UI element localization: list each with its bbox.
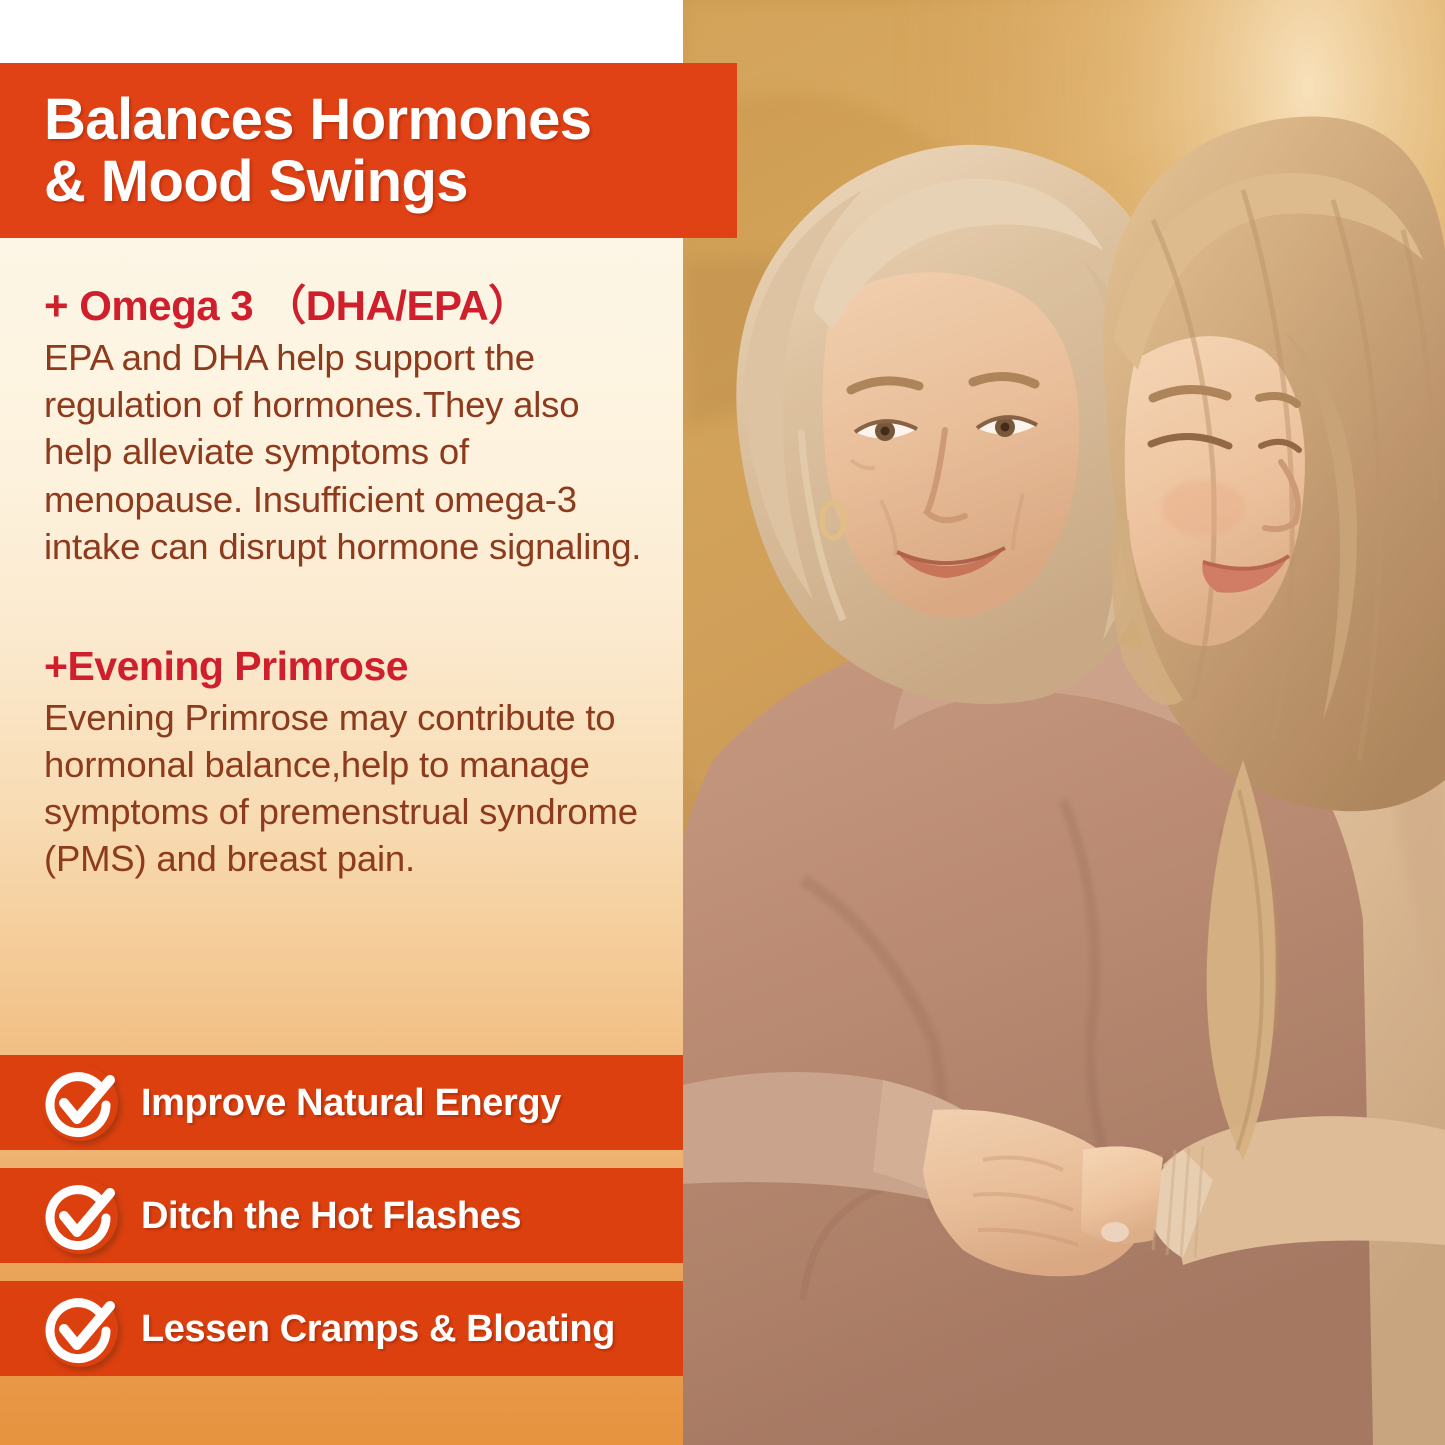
- benefit-label: Ditch the Hot Flashes: [141, 1197, 521, 1235]
- benefit-item-lessen-cramps-and-bloating: Lessen Cramps & Bloating: [0, 1281, 683, 1376]
- benefit-item-improve-natural-energy: Improve Natural Energy: [0, 1055, 683, 1150]
- section-omega-3-heading: + Omega 3 （DHA/EPA）: [44, 282, 655, 330]
- benefit-label: Lessen Cramps & Bloating: [141, 1310, 615, 1348]
- photo-illustration: [683, 0, 1445, 1445]
- lifestyle-photo: [683, 0, 1445, 1445]
- product-infographic-page: Balances Hormones & Mood Swings + Omega …: [0, 0, 1445, 1445]
- benefit-label: Improve Natural Energy: [141, 1084, 561, 1122]
- sections-container: + Omega 3 （DHA/EPA） EPA and DHA help sup…: [0, 238, 683, 882]
- section-evening-primrose-body: Evening Primrose may contribute to hormo…: [44, 694, 655, 882]
- section-omega-3: + Omega 3 （DHA/EPA） EPA and DHA help sup…: [0, 282, 683, 570]
- section-evening-primrose-heading: +Evening Primrose: [44, 643, 655, 690]
- section-evening-primrose: +Evening Primrose Evening Primrose may c…: [0, 643, 683, 882]
- benefits-list: Improve Natural Energy Ditch the Hot Fla…: [0, 1055, 683, 1376]
- check-circle-icon: [40, 1063, 120, 1143]
- check-circle-icon: [40, 1289, 120, 1369]
- check-circle-icon: [40, 1176, 120, 1256]
- section-omega-3-body: EPA and DHA help support the regulation …: [44, 334, 655, 569]
- benefit-item-ditch-the-hot-flashes: Ditch the Hot Flashes: [0, 1168, 683, 1263]
- page-title: Balances Hormones & Mood Swings: [0, 89, 591, 212]
- header-banner: Balances Hormones & Mood Swings: [0, 63, 737, 238]
